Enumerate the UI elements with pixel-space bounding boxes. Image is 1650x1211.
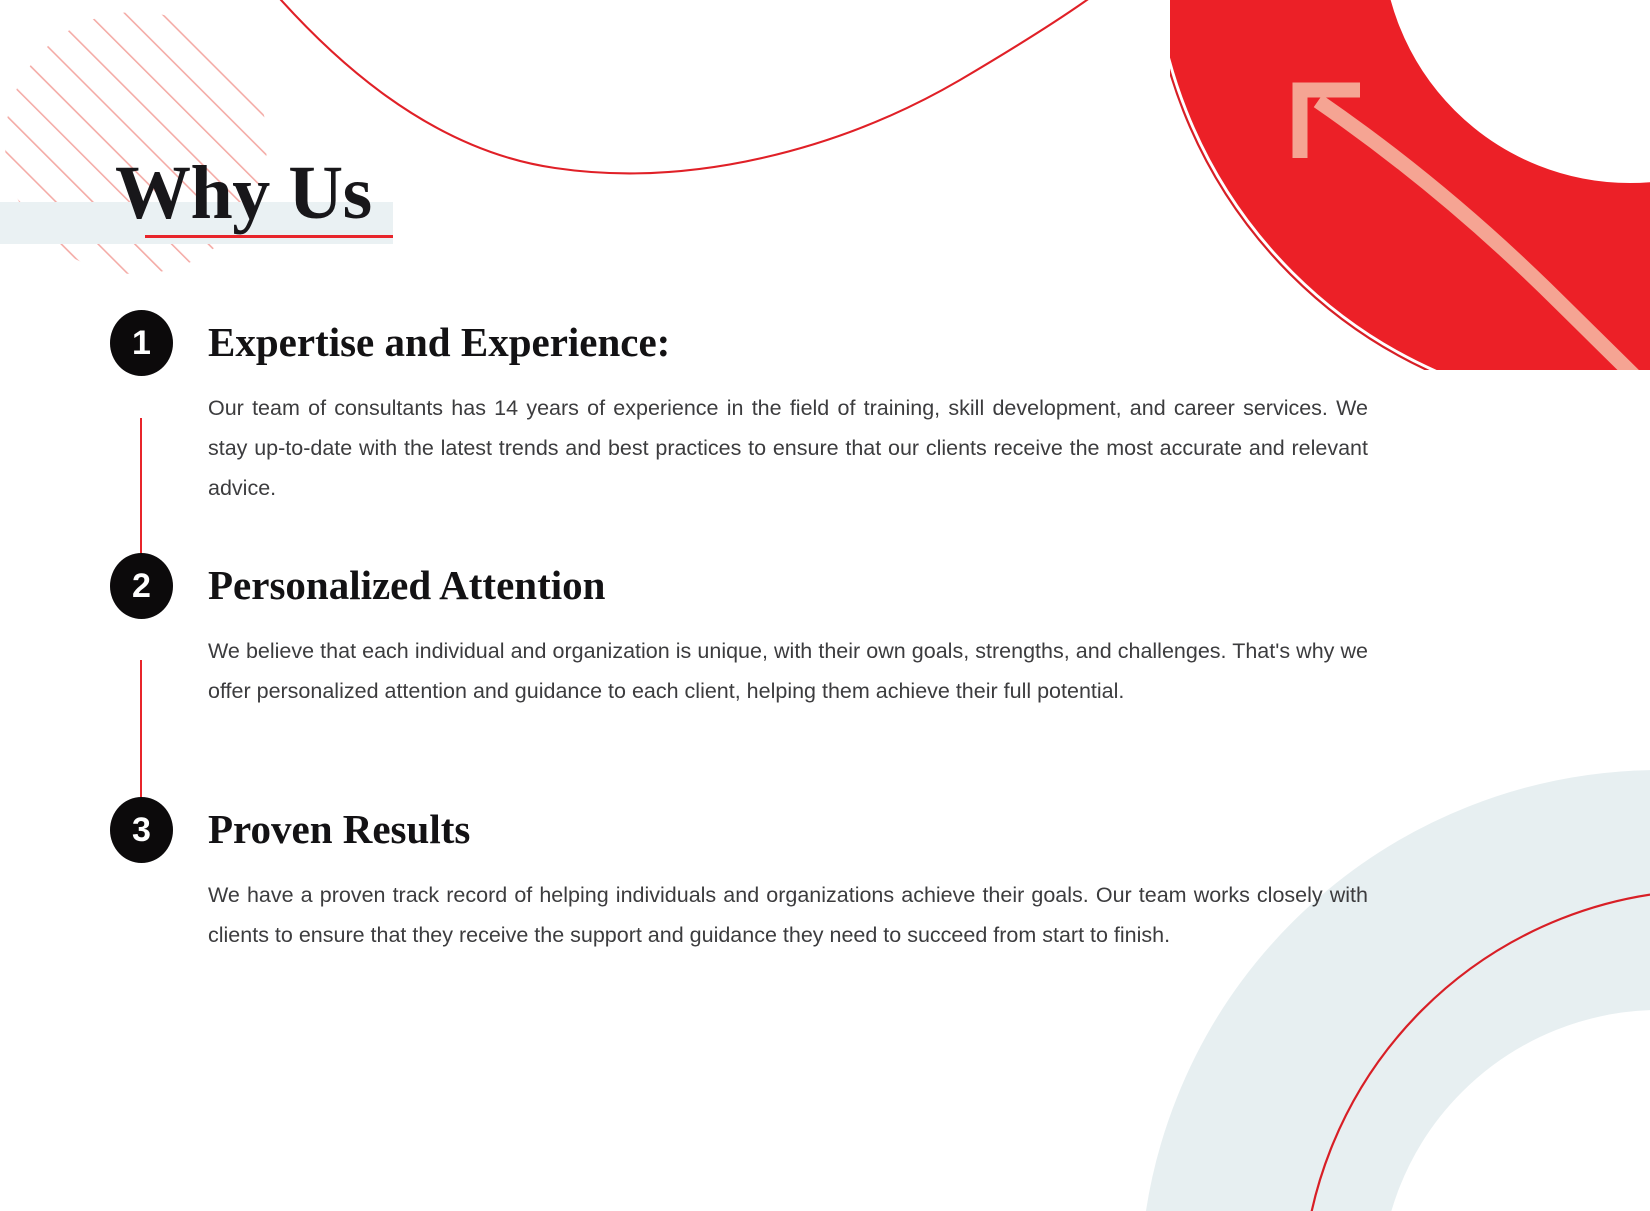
item-heading: Personalized Attention	[208, 559, 605, 611]
item-body-text: Our team of consultants has 14 years of …	[208, 388, 1368, 508]
step-number-badge: 3	[110, 797, 173, 863]
connector-line-1-2	[140, 418, 142, 566]
step-number-badge: 1	[110, 310, 173, 376]
why-us-list: 1 Expertise and Experience: Our team of …	[0, 0, 1650, 1211]
item-heading: Expertise and Experience:	[208, 316, 670, 368]
step-number-badge: 2	[110, 553, 173, 619]
item-heading: Proven Results	[208, 803, 470, 855]
item-body-text: We believe that each individual and orga…	[208, 631, 1368, 711]
item-body-text: We have a proven track record of helping…	[208, 875, 1368, 955]
connector-line-2-3	[140, 660, 142, 810]
